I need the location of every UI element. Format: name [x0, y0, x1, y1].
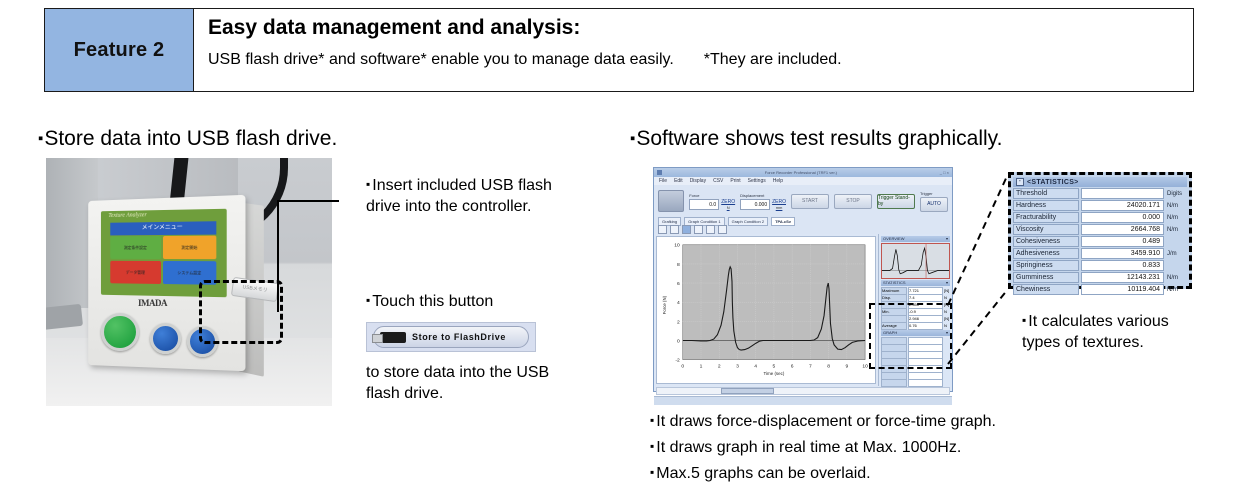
statistics-label-adhesiveness: Adhesiveness — [1013, 248, 1079, 259]
left-section-heading: ▪Store data into USB flash drive. — [38, 127, 337, 151]
displacement-value: 0.000 — [740, 199, 770, 210]
annotation-insert-text: Insert included USB flash drive into the… — [366, 177, 552, 215]
annotation-touch-text: Touch this button — [372, 293, 493, 310]
overview-panel-title: OVERVIEW — [883, 236, 905, 242]
svg-text:10: 10 — [862, 363, 868, 369]
statistics-value-cohesiveness: 0.489 — [1081, 236, 1164, 247]
statistics-value-adhesiveness: 3459.910 — [1081, 248, 1164, 259]
y-tick-labels: 1086 420 -2 — [674, 243, 680, 364]
screen-tile-3: データ管理 — [110, 261, 161, 284]
screen-tile-1: 測定条件設定 — [110, 236, 161, 259]
grid-icon[interactable] — [694, 225, 703, 234]
statistics-row-cohesiveness: Cohesiveness 0.489 — [1013, 236, 1187, 247]
screen-menu-tiles: 測定条件設定 測定開始 データ管理 システム設定 — [110, 236, 216, 285]
start-button[interactable]: START — [791, 194, 829, 209]
print-icon[interactable] — [718, 225, 727, 234]
screen-tile-2: 測定開始 — [163, 236, 216, 260]
statistics-table-header: - <STATISTICS> — [1013, 177, 1187, 187]
store-to-flashdrive-button-inner[interactable]: Store to FlashDrive — [373, 326, 529, 348]
bullet-text-2: It draws graph in real time at Max. 1000… — [656, 439, 961, 456]
window-toolbar: Force 0.0 ZERON Displacement 0.000 ZEROm… — [654, 185, 952, 217]
statistics-label-viscosity: Viscosity — [1013, 224, 1079, 235]
statistics-value-springiness: 0.833 — [1081, 260, 1164, 271]
x-tick-labels: 012 345 678 910 — [681, 363, 868, 369]
displacement-row: 0.000 ZEROmm — [740, 199, 786, 210]
statistics-value-gumminess: 12143.231 — [1081, 272, 1164, 283]
statistics-label-hardness: Hardness — [1013, 200, 1079, 211]
bullet-marker: ▪ — [1022, 313, 1026, 327]
force-unit: N — [721, 205, 735, 210]
menu-file[interactable]: File — [659, 178, 667, 184]
overview-thumb-svg — [882, 244, 949, 278]
svg-text:6: 6 — [677, 281, 680, 287]
trigger-standby-button[interactable]: Trigger Stand-by — [877, 194, 915, 209]
statistics-unit-adhesiveness: J/m — [1166, 251, 1187, 257]
slide-page: Feature 2 Easy data management and analy… — [0, 0, 1243, 495]
statistics-label-springiness: Springiness — [1013, 260, 1079, 271]
window-controls[interactable]: _ □ × — [940, 170, 949, 175]
window-tab-strip: Grafking Graph Condition 1 Graph Conditi… — [654, 217, 952, 225]
svg-text:0: 0 — [677, 338, 680, 344]
statistics-source-dashed-box — [869, 303, 952, 369]
bullet-marker: ▪ — [366, 177, 370, 191]
statistics-value-fracturability: 0.000 — [1081, 212, 1164, 223]
annotation-insert-usb: ▪Insert included USB flash drive into th… — [366, 174, 566, 217]
window-icon-group — [657, 170, 662, 175]
statistics-value-hardness: 24020.171 — [1081, 200, 1164, 211]
right-bullet-list: ▪It draws force-displacement or force-ti… — [650, 408, 996, 486]
cursor-icon[interactable] — [682, 225, 691, 234]
window-menu-bar: File Edit Display CSV Print Settings Hel… — [654, 177, 952, 185]
displacement-unit: mm — [772, 205, 786, 210]
statistics-panel-title: STATISTICS — [883, 280, 906, 286]
bullet-text-3: Max.5 graphs can be overlaid. — [656, 465, 870, 482]
statistics-row-adhesiveness: Adhesiveness 3459.910 J/m — [1013, 248, 1187, 259]
usb-callout-dashed-box — [199, 280, 283, 344]
svg-text:3: 3 — [736, 363, 739, 369]
right-heading-text: Software shows test results graphically. — [636, 127, 1002, 150]
statistics-value-viscosity: 2664.768 — [1081, 224, 1164, 235]
right-section-heading: ▪Software shows test results graphically… — [630, 127, 1002, 151]
overview-panel-header[interactable]: OVERVIEW▾ — [881, 236, 950, 242]
bullet-marker: ▪ — [38, 130, 43, 147]
x-axis-label: Time (sec) — [764, 371, 785, 376]
statistics-label-gumminess: Gumminess — [1013, 272, 1079, 283]
window-title-bar: Force Recorder Professional (TRF1 ver.) … — [654, 168, 952, 177]
bullet-marker: ▪ — [366, 293, 370, 307]
photo-green-button — [101, 313, 139, 351]
screen-title-text: Texture Analyzer — [108, 212, 146, 219]
annotation-store-data: to store data into the USB flash drive. — [366, 362, 576, 404]
menu-edit[interactable]: Edit — [674, 178, 683, 184]
statistics-unit-viscosity: N/m — [1166, 227, 1187, 233]
displacement-caption: Displacement — [740, 193, 786, 198]
statistics-row-springiness: Springiness 0.833 — [1013, 260, 1187, 271]
overview-thumbnail[interactable] — [881, 243, 950, 279]
svg-text:4: 4 — [677, 300, 680, 306]
horizontal-scrollbar[interactable] — [656, 387, 950, 395]
force-caption: Force — [689, 193, 735, 198]
statistics-row-fracturability: Fracturability 0.000 N/m — [1013, 212, 1187, 223]
statistics-label-threshold: Threshold — [1013, 188, 1079, 199]
bullet-text-1: It draws force-displacement or force-tim… — [656, 413, 996, 430]
usb-stick-icon — [380, 332, 406, 343]
mini-stat-unit: N — [944, 295, 950, 301]
force-row: 0.0 ZERON — [689, 199, 735, 210]
statistics-unit-gumminess: N/m — [1166, 275, 1187, 281]
save-icon[interactable] — [706, 225, 715, 234]
svg-text:2: 2 — [718, 363, 721, 369]
overview-collapse-icon[interactable]: ▾ — [946, 236, 948, 242]
statistics-row-chewiness: Chewiness 10119.404 N/m — [1013, 284, 1187, 295]
force-time-plot[interactable]: 1086 420 -2 012 345 678 910 Force (N) Ti… — [656, 236, 876, 384]
menu-help[interactable]: Help — [773, 178, 783, 184]
tab-tpa-csv[interactable]: TPA.cSv — [771, 217, 795, 226]
svg-text:-2: -2 — [675, 358, 680, 364]
force-zero-button[interactable]: ZERON — [721, 199, 735, 210]
statistics-unit-hardness: N/m — [1166, 203, 1187, 209]
window-icon-toolbar — [654, 225, 952, 234]
store-to-flashdrive-button[interactable]: Store to FlashDrive — [366, 322, 536, 352]
menu-settings[interactable]: Settings — [748, 178, 766, 184]
statistics-magnified-table: - <STATISTICS> Threshold Digits Hardness… — [1008, 172, 1192, 289]
trigger-caption: Trigger — [920, 191, 948, 196]
svg-text:8: 8 — [677, 262, 680, 268]
feature-header-band: Feature 2 Easy data management and analy… — [44, 8, 1194, 92]
plot-svg: 1086 420 -2 012 345 678 910 Force (N) Ti… — [657, 237, 875, 383]
bullet-marker: ▪ — [650, 439, 654, 453]
svg-text:2: 2 — [677, 319, 680, 325]
app-icon — [657, 170, 662, 175]
screen-menu-bar: メインメニュー — [110, 221, 216, 235]
menu-csv[interactable]: CSV — [713, 178, 723, 184]
force-value: 0.0 — [689, 199, 719, 210]
statistics-label-cohesiveness: Cohesiveness — [1013, 236, 1079, 247]
statistics-unit-fracturability: N/m — [1166, 215, 1187, 221]
svg-text:5: 5 — [773, 363, 776, 369]
feature-subtitle: USB flash drive* and software* enable yo… — [208, 50, 674, 69]
scrollbar-thumb[interactable] — [721, 388, 774, 394]
menu-print[interactable]: Print — [730, 178, 740, 184]
window-title-text: Force Recorder Professional (TRF1 ver.) — [765, 170, 837, 175]
svg-text:1: 1 — [700, 363, 703, 369]
annotation-touch-button: ▪Touch this button — [366, 290, 576, 312]
statistics-row-hardness: Hardness 24020.171 N/m — [1013, 200, 1187, 211]
svg-text:4: 4 — [754, 363, 757, 369]
feature-body: Easy data management and analysis: USB f… — [194, 9, 1193, 91]
statistics-panel-header[interactable]: STATISTICS▾ — [881, 280, 950, 286]
left-heading-text: Store data into USB flash drive. — [44, 127, 337, 150]
displacement-zero-button[interactable]: ZEROmm — [772, 199, 786, 210]
zoom-out-icon[interactable] — [658, 225, 667, 234]
window-status-bar — [654, 396, 952, 405]
statistics-value-threshold[interactable] — [1081, 188, 1164, 199]
bullet-marker: ▪ — [650, 465, 654, 479]
y-axis-label: Force (N) — [662, 295, 667, 314]
photo-imada-logo: IMADA — [138, 298, 167, 308]
svg-text:8: 8 — [827, 363, 830, 369]
statistics-row-gumminess: Gumminess 12143.231 N/m — [1013, 272, 1187, 283]
store-to-flashdrive-label: Store to FlashDrive — [412, 332, 506, 342]
statistics-unit-chewiness: N/m — [1166, 287, 1187, 293]
statistics-collapse-icon[interactable]: ▾ — [946, 280, 948, 286]
annotation-calc-text: It calculates various types of textures. — [1022, 313, 1169, 351]
bullet-marker: ▪ — [630, 130, 635, 147]
mini-stat-unit: [N] — [944, 288, 950, 294]
feature-note: *They are included. — [704, 50, 842, 69]
statistics-row-viscosity: Viscosity 2664.768 N/m — [1013, 224, 1187, 235]
stop-button[interactable]: STOP — [834, 194, 872, 209]
bullet-item-1: ▪It draws force-displacement or force-ti… — [650, 408, 996, 434]
svg-text:7: 7 — [809, 363, 812, 369]
statistics-label-fracturability: Fracturability — [1013, 212, 1079, 223]
annotation-calculates-textures: ▪It calculates various types of textures… — [1022, 310, 1192, 353]
bullet-marker: ▪ — [650, 413, 654, 427]
tab-graph-condition-2[interactable]: Graph Condition 2 — [728, 217, 768, 226]
statistics-table-title: <STATISTICS> — [1027, 179, 1079, 186]
svg-text:6: 6 — [791, 363, 794, 369]
statistics-value-chewiness: 10119.404 — [1081, 284, 1164, 295]
photo-stand-clamp — [46, 304, 83, 330]
sensor-icon — [658, 190, 684, 212]
menu-display[interactable]: Display — [690, 178, 706, 184]
usb-callout-leader-line — [277, 200, 339, 312]
feature-title: Easy data management and analysis: — [208, 15, 1193, 41]
statistics-label-chewiness: Chewiness — [1013, 284, 1079, 295]
force-field-group: Force 0.0 ZERON — [689, 193, 735, 210]
feature-subtitle-row: USB flash drive* and software* enable yo… — [208, 50, 1193, 69]
svg-text:0: 0 — [681, 363, 684, 369]
embedded-stat-row — [881, 380, 950, 386]
svg-text:9: 9 — [845, 363, 848, 369]
statistics-digits-header: Digits — [1166, 191, 1187, 197]
collapse-icon[interactable]: - — [1016, 178, 1024, 186]
bullet-item-2: ▪It draws graph in real time at Max. 100… — [650, 434, 996, 460]
trigger-group: Trigger AUTO — [920, 191, 948, 212]
statistics-row-threshold: Threshold Digits — [1013, 188, 1187, 199]
svg-text:10: 10 — [674, 243, 680, 249]
bullet-item-3: ▪Max.5 graphs can be overlaid. — [650, 460, 996, 486]
zoom-in-icon[interactable] — [670, 225, 679, 234]
displacement-field-group: Displacement 0.000 ZEROmm — [740, 193, 786, 210]
trigger-auto-button[interactable]: AUTO — [920, 197, 948, 212]
feature-tag: Feature 2 — [45, 9, 194, 91]
photo-blue-down-button — [150, 323, 181, 354]
